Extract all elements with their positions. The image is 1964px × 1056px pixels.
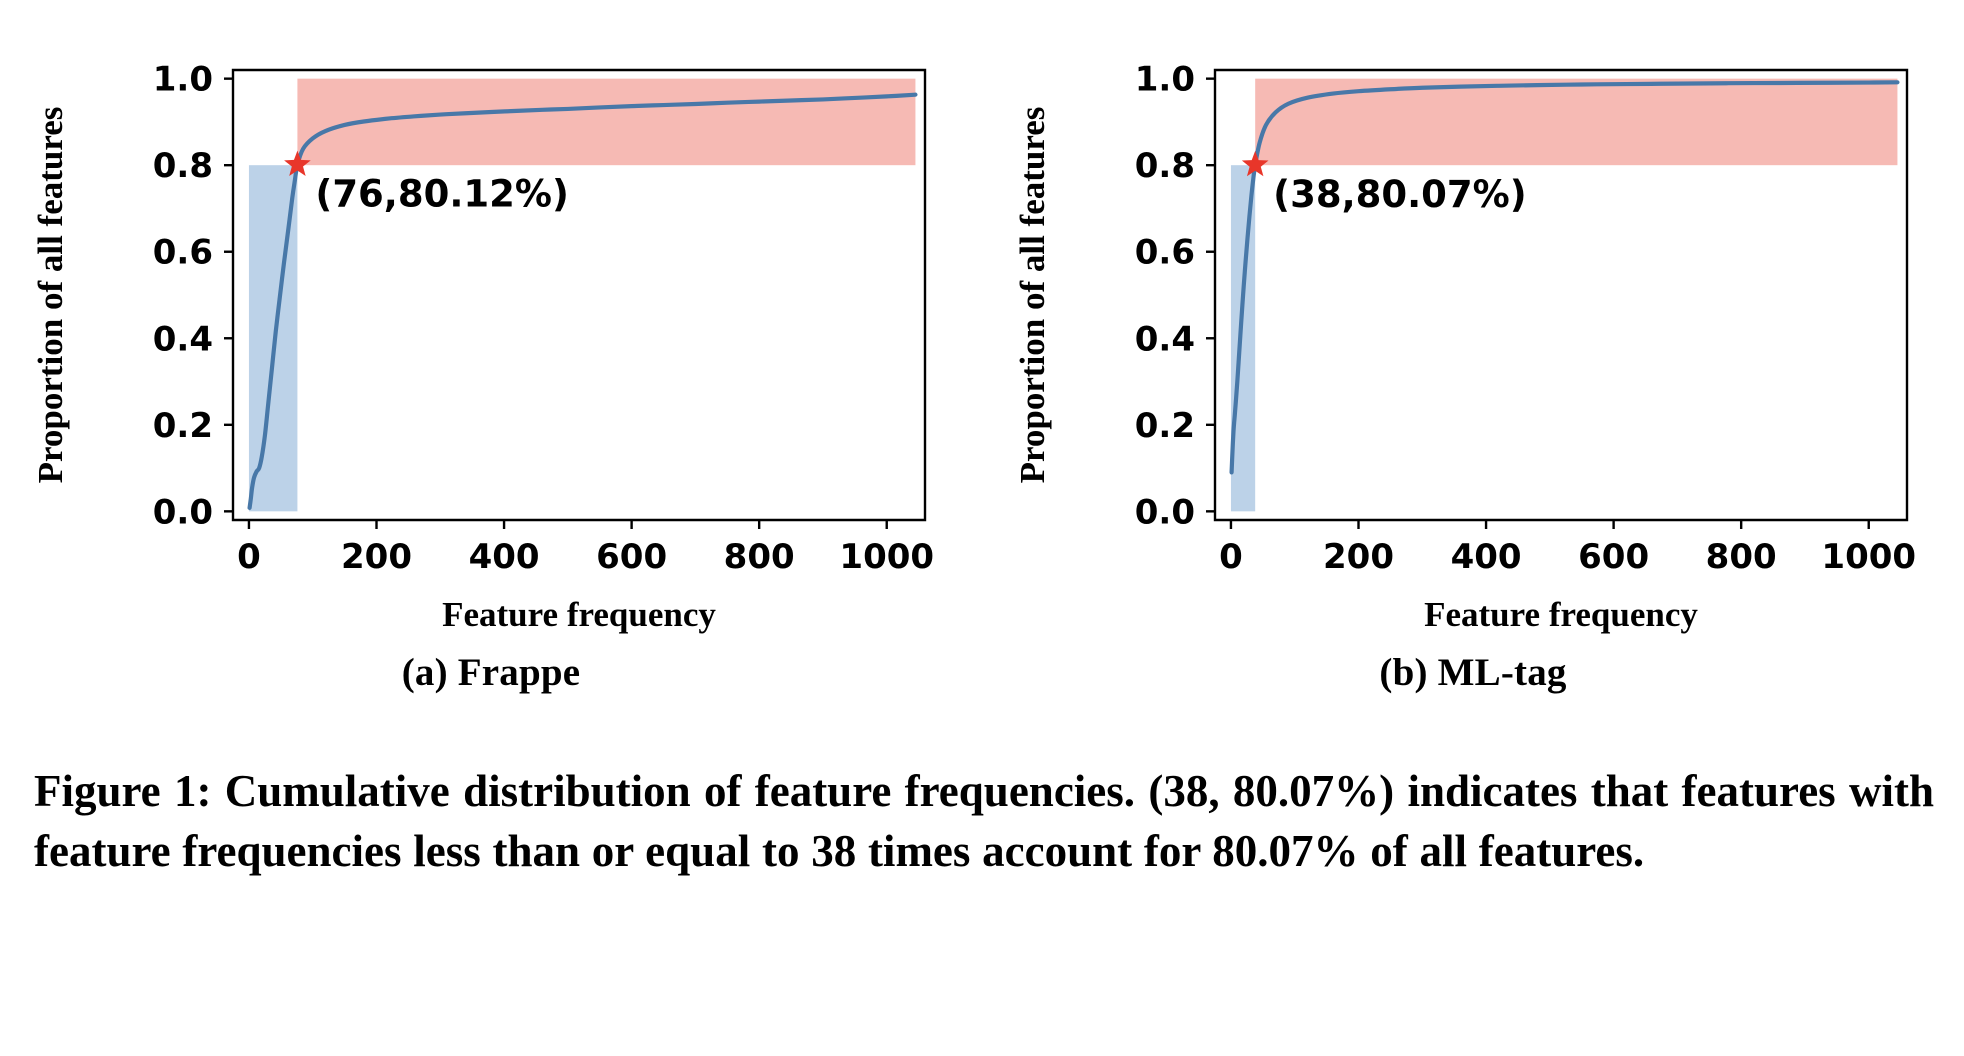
y-tick-labels: 0.00.20.40.60.81.0	[1135, 60, 1195, 533]
threshold-annotation-label: (38,80.07%)	[1273, 173, 1526, 216]
x-tick-label: 600	[1578, 537, 1649, 577]
y-tick-label: 0.0	[153, 492, 213, 532]
x-tick-label: 0	[1219, 537, 1243, 577]
chart-mltag: 02004006008001000 0.00.20.40.60.81.0 Fea…	[982, 0, 1964, 640]
low-frequency-shaded-region	[1231, 165, 1255, 511]
y-axis-title: Proportion of all features	[1013, 107, 1052, 484]
y-tick-label: 1.0	[1135, 60, 1195, 100]
x-tick-label: 400	[469, 537, 540, 577]
threshold-annotation-label: (76,80.12%)	[315, 173, 568, 216]
panel-mltag: 02004006008001000 0.00.20.40.60.81.0 Fea…	[982, 0, 1964, 720]
x-tick-label: 800	[724, 537, 795, 577]
y-tick-label: 0.2	[153, 406, 213, 446]
y-tick-label: 0.0	[1135, 492, 1195, 532]
chart-frappe: 02004006008001000 0.00.20.40.60.81.0 Fea…	[0, 0, 982, 640]
y-tick-label: 1.0	[153, 60, 213, 100]
x-tick-label: 400	[1451, 537, 1522, 577]
x-axis-title: Feature frequency	[1424, 595, 1698, 634]
x-tick-label: 800	[1706, 537, 1777, 577]
x-tick-label: 1000	[1821, 537, 1916, 577]
subcaption-frappe: (a) Frappe	[0, 650, 982, 695]
y-tick-label: 0.6	[153, 233, 213, 273]
subcaption-mltag: (b) ML-tag	[982, 650, 1964, 695]
y-tick-labels: 0.00.20.40.60.81.0	[153, 60, 213, 533]
x-axis-title: Feature frequency	[442, 595, 716, 634]
x-tick-labels: 02004006008001000	[1219, 537, 1916, 577]
x-tick-label: 200	[1323, 537, 1394, 577]
x-tick-label: 600	[596, 537, 667, 577]
x-tick-label: 1000	[839, 537, 934, 577]
panel-frappe: 02004006008001000 0.00.20.40.60.81.0 Fea…	[0, 0, 982, 720]
y-axis-title: Proportion of all features	[31, 107, 70, 484]
y-tick-label: 0.2	[1135, 406, 1195, 446]
high-proportion-shaded-region	[297, 79, 915, 166]
figure-caption: Figure 1: Cumulative distribution of fea…	[34, 762, 1934, 882]
x-tick-label: 200	[341, 537, 412, 577]
figure-panels-row: 02004006008001000 0.00.20.40.60.81.0 Fea…	[0, 0, 1964, 720]
y-tick-label: 0.8	[1135, 146, 1195, 186]
y-tick-label: 0.4	[153, 319, 213, 359]
y-tick-label: 0.8	[153, 146, 213, 186]
figure-container: 02004006008001000 0.00.20.40.60.81.0 Fea…	[0, 0, 1964, 1056]
x-tick-labels: 02004006008001000	[237, 537, 934, 577]
y-tick-label: 0.4	[1135, 319, 1195, 359]
x-tick-label: 0	[237, 537, 261, 577]
y-tick-label: 0.6	[1135, 233, 1195, 273]
